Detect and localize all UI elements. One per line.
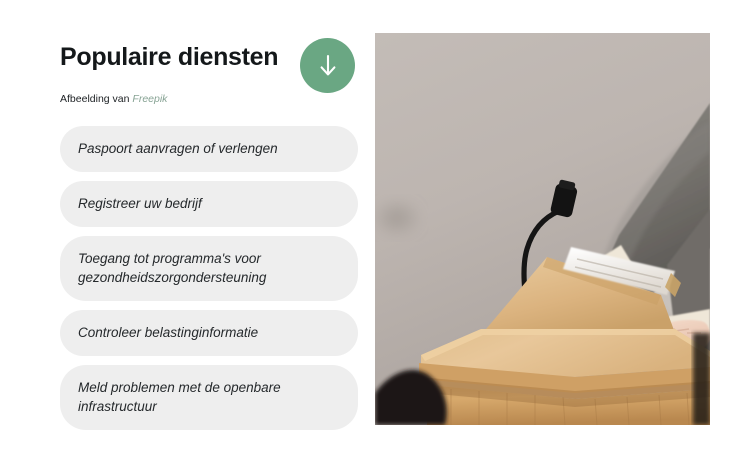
service-item-label: Meld problemen met de openbare infrastru… <box>78 378 340 416</box>
service-item-passport[interactable]: Paspoort aanvragen of verlengen <box>60 126 358 172</box>
service-item-label: Paspoort aanvragen of verlengen <box>78 139 340 158</box>
image-attribution: Afbeelding van Freepik <box>60 92 358 106</box>
left-content-column: Populaire diensten Afbeelding van Freepi… <box>60 42 358 106</box>
slide-canvas: Populaire diensten Afbeelding van Freepi… <box>0 0 750 460</box>
arrow-down-icon <box>317 53 339 79</box>
service-item-label: Registreer uw bedrijf <box>78 194 340 213</box>
service-item-report-infrastructure[interactable]: Meld problemen met de openbare infrastru… <box>60 365 358 430</box>
service-item-healthcare-programs[interactable]: Toegang tot programma's voor gezondheids… <box>60 236 358 301</box>
popular-services-list: Paspoort aanvragen of verlengen Registre… <box>60 126 358 430</box>
podium-photo <box>375 33 710 425</box>
attribution-label: Afbeelding van <box>60 93 129 105</box>
service-item-label: Toegang tot programma's voor gezondheids… <box>78 249 340 287</box>
attribution-source-link[interactable]: Freepik <box>132 93 167 105</box>
title-row: Populaire diensten <box>60 42 358 78</box>
service-item-label: Controleer belastinginformatie <box>78 323 340 342</box>
service-item-tax-information[interactable]: Controleer belastinginformatie <box>60 310 358 356</box>
service-item-register-business[interactable]: Registreer uw bedrijf <box>60 181 358 227</box>
podium-photo-image <box>375 33 710 425</box>
download-button[interactable] <box>300 38 355 93</box>
